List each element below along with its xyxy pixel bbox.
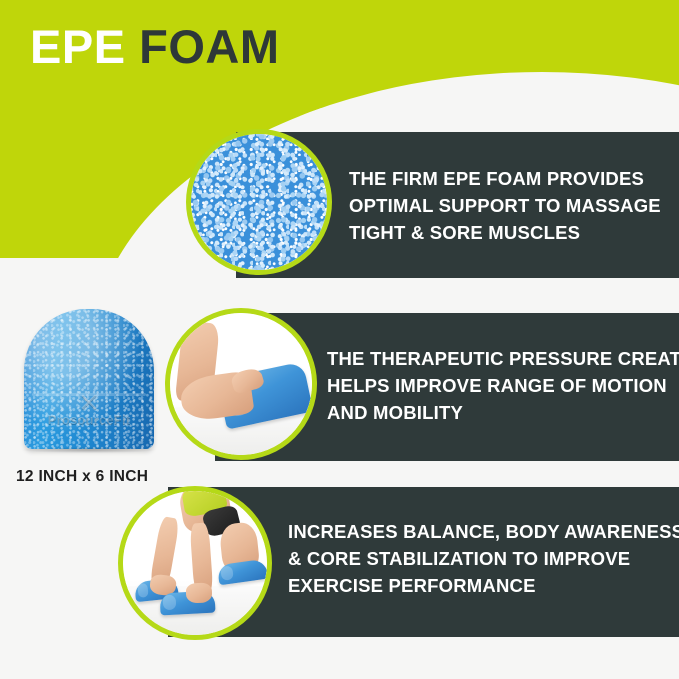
feature-panel-1-text: THE FIRM EPE FOAM PROVIDES OPTIMAL SUPPO… [349, 165, 661, 246]
product-brand-logo: ⨉ ProsourceFit [31, 395, 147, 427]
foot-scene [170, 313, 312, 455]
foam-closeup-texture [191, 134, 327, 270]
product-edge-highlight [32, 393, 146, 396]
page-title-light: EPE [30, 20, 126, 73]
product-brand-text: ProsourceFit [31, 412, 147, 427]
swoosh-icon: ⨉ [31, 395, 147, 412]
plank-scene [123, 491, 267, 635]
feature-panel-1-line-1: THE FIRM EPE FOAM PROVIDES [349, 165, 661, 192]
page-title: EPE FOAM [30, 20, 279, 74]
foam-texture-circle [186, 129, 332, 275]
feature-panel-3-line-2: & CORE STABILIZATION TO IMPROVE [288, 545, 679, 572]
page-title-dark: FOAM [139, 20, 279, 73]
feature-panel-3-line-3: EXERCISE PERFORMANCE [288, 572, 679, 599]
foot-on-roller-image [170, 313, 312, 455]
product-drop-shadow [22, 447, 156, 453]
product-foam-roller-body: ⨉ ProsourceFit [24, 309, 154, 449]
feature-panel-2-line-3: AND MOBILITY [327, 399, 679, 426]
feature-panel-3-text: INCREASES BALANCE, BODY AWARENESS, & COR… [288, 518, 679, 599]
product-size-label: 12 INCH x 6 INCH [16, 468, 148, 486]
feature-panel-2-text: THE THERAPEUTIC PRESSURE CREATED HELPS I… [327, 345, 679, 426]
header-curve-decoration [92, 72, 679, 122]
feature-panel-3-line-1: INCREASES BALANCE, BODY AWARENESS, [288, 518, 679, 545]
foot-on-roller-circle [165, 308, 317, 460]
product-image: ⨉ ProsourceFit [8, 305, 173, 457]
feature-panel-2-line-2: HELPS IMPROVE RANGE OF MOTION [327, 372, 679, 399]
plank-on-rollers-circle [118, 486, 272, 640]
epe-foam-infographic: EPE FOAM THE FIRM EPE FOAM PROVIDES OPTI… [0, 0, 679, 679]
foam-texture-image [191, 134, 327, 270]
feature-panel-1-line-2: OPTIMAL SUPPORT TO MASSAGE [349, 192, 661, 219]
feature-panel-1-line-3: TIGHT & SORE MUSCLES [349, 219, 661, 246]
feature-panel-2-line-1: THE THERAPEUTIC PRESSURE CREATED [327, 345, 679, 372]
plank-on-rollers-image [123, 491, 267, 635]
